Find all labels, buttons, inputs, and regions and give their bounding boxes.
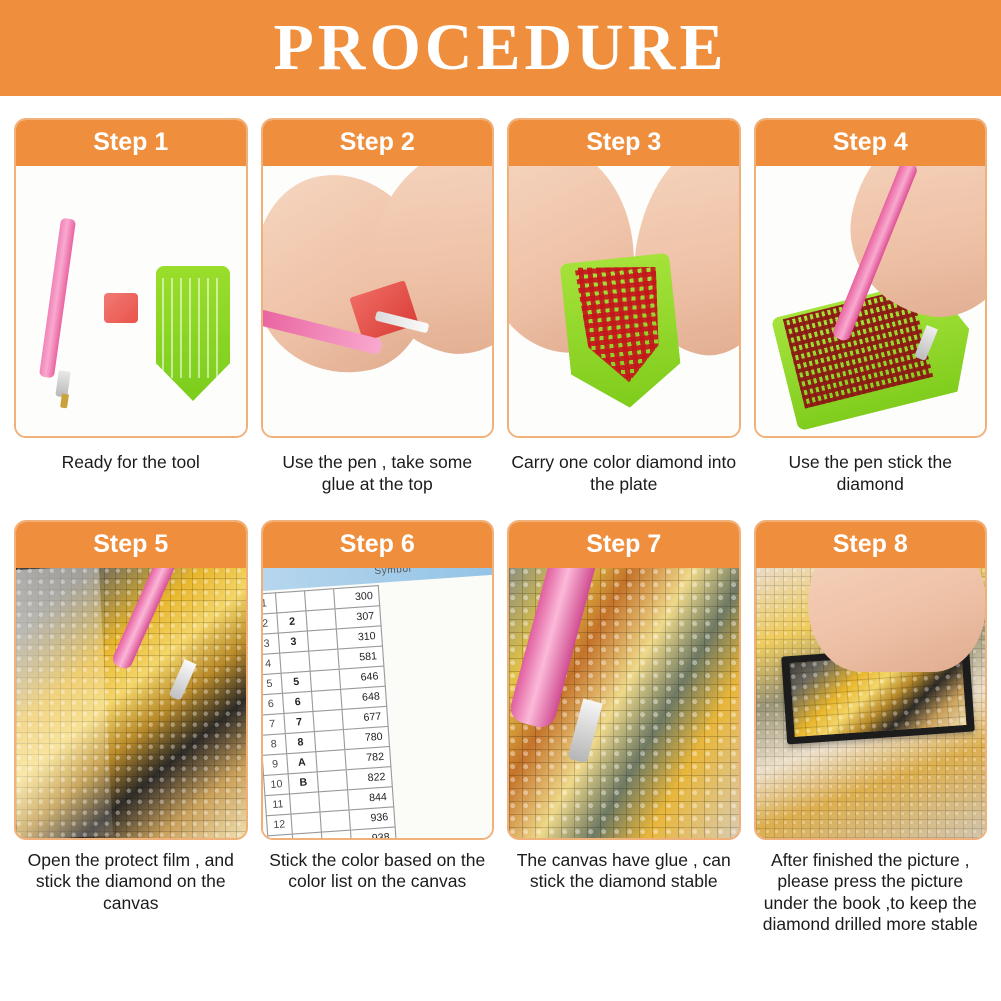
row-symbol: A xyxy=(286,752,316,774)
step-card-5: Step 5 xyxy=(14,520,248,840)
step-1-image xyxy=(16,166,246,436)
step-8-caption: After finished the picture , please pres… xyxy=(754,840,988,935)
row-symbol: 7 xyxy=(283,711,313,733)
row-symbol: 3 xyxy=(278,631,308,653)
row-index: 11 xyxy=(264,794,290,816)
row-symbol: B xyxy=(288,772,318,794)
scene-sticking-diamonds xyxy=(509,568,739,838)
steps-grid: Step 1 Ready for the tool Step 2 xyxy=(0,96,1001,935)
step-7-caption: The canvas have glue , can stick the dia… xyxy=(507,840,741,918)
row-spacer xyxy=(311,689,341,711)
step-cell-5: Step 5 Open the protect film , and stick… xyxy=(14,520,248,935)
step-6-label: Step 6 xyxy=(263,522,493,568)
scene-pick-diamond xyxy=(756,166,986,436)
glue-square-icon xyxy=(104,293,138,323)
row-spacer xyxy=(315,750,345,772)
scene-pour-diamonds xyxy=(509,166,739,436)
step-card-4: Step 4 xyxy=(754,118,988,438)
row-spacer xyxy=(318,790,348,812)
step-cell-1: Step 1 Ready for the tool xyxy=(14,118,248,516)
row-symbol xyxy=(290,812,320,834)
color-list-body: 1 300 2 2 307 xyxy=(263,586,399,838)
step-6-caption: Stick the color based on the color list … xyxy=(261,840,495,918)
step-card-2: Step 2 xyxy=(261,118,495,438)
step-cell-7: Step 7 The canvas have glue , can stick … xyxy=(507,520,741,935)
scene-peel-film xyxy=(16,568,246,838)
step-cell-4: Step 4 Use the pen stick the diamond xyxy=(754,118,988,516)
step-card-3: Step 3 xyxy=(507,118,741,438)
row-spacer xyxy=(308,649,338,671)
color-list-table: 1 300 2 2 307 xyxy=(263,585,400,838)
scene-pen-glue xyxy=(263,166,493,436)
row-index: 5 xyxy=(263,673,282,695)
row-symbol xyxy=(292,832,322,838)
page-title: PROCEDURE xyxy=(273,10,727,86)
step-card-6: Step 6 Symbol DMC 1 xyxy=(261,520,495,840)
step-2-label: Step 2 xyxy=(263,120,493,166)
row-spacer xyxy=(319,810,349,832)
row-index: 4 xyxy=(263,653,281,675)
step-8-label: Step 8 xyxy=(756,522,986,568)
row-symbol xyxy=(275,591,305,613)
row-spacer xyxy=(317,770,347,792)
row-index: 8 xyxy=(263,734,287,756)
row-index: 9 xyxy=(263,754,288,776)
row-symbol: 2 xyxy=(276,611,306,633)
step-2-image xyxy=(263,166,493,436)
step-3-caption: Carry one color diamond into the plate xyxy=(507,438,741,516)
chart-paper: Symbol DMC 1 300 xyxy=(263,568,493,838)
step-7-label: Step 7 xyxy=(509,522,739,568)
step-cell-6: Step 6 Symbol DMC 1 xyxy=(261,520,495,935)
row-symbol: 8 xyxy=(285,732,315,754)
step-card-7: Step 7 xyxy=(507,520,741,840)
step-3-label: Step 3 xyxy=(509,120,739,166)
row-symbol: 5 xyxy=(281,671,311,693)
step-4-image xyxy=(756,166,986,436)
step-cell-3: Step 3 Carry one color diamond into the … xyxy=(507,118,741,516)
step-5-image xyxy=(16,568,246,838)
row-index: 7 xyxy=(263,713,285,735)
row-symbol xyxy=(289,792,319,814)
procedure-page: PROCEDURE Step 1 Ready for the to xyxy=(0,0,1001,1001)
step-8-image xyxy=(756,568,986,838)
row-symbol xyxy=(279,651,309,673)
row-index: 3 xyxy=(263,633,280,655)
pen-nib-icon xyxy=(60,394,69,409)
row-index: 12 xyxy=(266,814,292,836)
step-4-label: Step 4 xyxy=(756,120,986,166)
step-2-caption: Use the pen , take some glue at the top xyxy=(261,438,495,516)
hands-pressing-icon xyxy=(808,568,986,672)
step-card-1: Step 1 xyxy=(14,118,248,438)
step-card-8: Step 8 xyxy=(754,520,988,840)
scene-press-picture xyxy=(756,568,986,838)
protective-film-icon xyxy=(16,568,113,838)
scene-tool-set xyxy=(16,166,246,436)
step-cell-2: Step 2 Use the pen , take some glue at t… xyxy=(261,118,495,516)
row-spacer xyxy=(312,709,342,731)
step-1-label: Step 1 xyxy=(16,120,246,166)
step-5-label: Step 5 xyxy=(16,522,246,568)
row-spacer xyxy=(310,669,340,691)
step-5-caption: Open the protect film , and stick the di… xyxy=(14,840,248,918)
page-banner: PROCEDURE xyxy=(0,0,1001,96)
step-1-caption: Ready for the tool xyxy=(14,438,248,516)
row-spacer xyxy=(321,830,351,838)
row-symbol: 6 xyxy=(282,691,312,713)
step-6-image: Symbol DMC 1 300 xyxy=(263,568,493,838)
step-3-image xyxy=(509,166,739,436)
pink-pen-icon xyxy=(39,218,76,379)
step-4-caption: Use the pen stick the diamond xyxy=(754,438,988,516)
row-spacer xyxy=(305,609,335,631)
row-index: 2 xyxy=(263,613,278,635)
row-code: 938 xyxy=(350,827,396,838)
row-spacer xyxy=(307,629,337,651)
row-index: 1 xyxy=(263,593,277,615)
row-spacer xyxy=(314,730,344,752)
tray-grooves-icon xyxy=(162,278,224,378)
step-7-image xyxy=(509,568,739,838)
row-spacer xyxy=(304,589,334,611)
step-cell-8: Step 8 After finished the picture , plea… xyxy=(754,520,988,935)
row-index: 10 xyxy=(263,774,289,796)
row-index: 6 xyxy=(263,693,284,715)
row-index: 13 xyxy=(267,834,293,838)
scene-color-chart: Symbol DMC 1 300 xyxy=(263,568,493,838)
